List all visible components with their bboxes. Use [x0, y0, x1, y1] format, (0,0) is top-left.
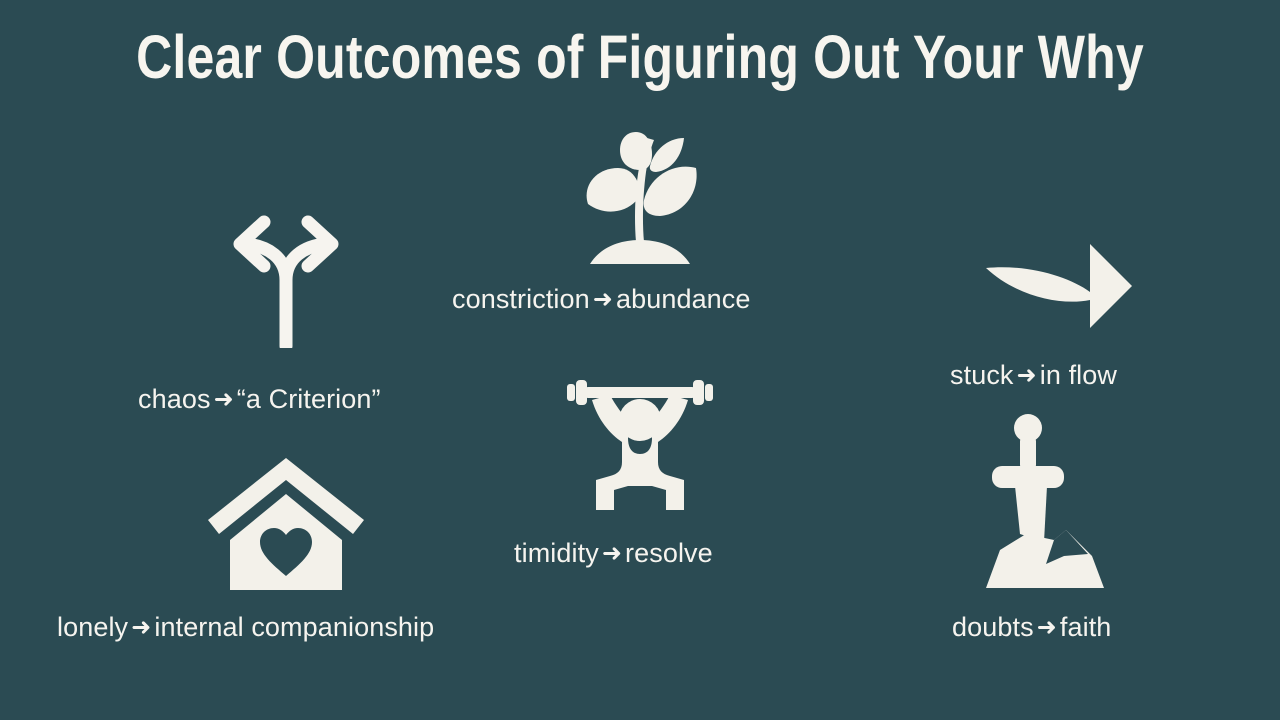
outcome-label-doubts: doubts➜faith: [952, 614, 1111, 641]
curved-right-arrow-icon: [982, 240, 1134, 330]
outcome-to-text: abundance: [616, 284, 751, 314]
outcome-to-text: faith: [1060, 612, 1112, 642]
outcome-to-text: internal companionship: [154, 612, 434, 642]
outcome-from-text: stuck: [950, 360, 1014, 390]
outcome-label-timidity: timidity➜resolve: [514, 540, 713, 567]
outcome-label-constriction: constriction➜abundance: [452, 286, 751, 313]
arrow-right-icon: ➜: [128, 613, 154, 641]
seedling-plant-icon: [578, 126, 702, 268]
outcome-to-text: “a Criterion”: [237, 384, 381, 414]
outcome-from-text: lonely: [57, 612, 128, 642]
arrow-right-icon: ➜: [1034, 613, 1060, 641]
house-with-heart-icon: [208, 458, 364, 592]
sword-in-stone-icon: [968, 414, 1110, 590]
outcome-to-text: resolve: [625, 538, 713, 568]
weightlifter-barbell-icon: [566, 378, 714, 512]
fork-in-road-arrows-icon: [212, 206, 360, 348]
outcome-label-chaos: chaos➜“a Criterion”: [138, 386, 381, 413]
outcome-label-lonely: lonely➜internal companionship: [57, 614, 434, 641]
arrow-right-icon: ➜: [211, 385, 237, 413]
arrow-right-icon: ➜: [1014, 361, 1040, 389]
arrow-right-icon: ➜: [599, 539, 625, 567]
arrow-right-icon: ➜: [590, 285, 616, 313]
outcome-label-stuck: stuck➜in flow: [950, 362, 1117, 389]
slide-canvas: Clear Outcomes of Figuring Out Your Why …: [0, 0, 1280, 720]
outcome-from-text: constriction: [452, 284, 590, 314]
outcome-from-text: chaos: [138, 384, 211, 414]
outcome-from-text: doubts: [952, 612, 1034, 642]
page-title: Clear Outcomes of Figuring Out Your Why: [115, 24, 1165, 91]
outcome-from-text: timidity: [514, 538, 599, 568]
outcome-to-text: in flow: [1040, 360, 1117, 390]
